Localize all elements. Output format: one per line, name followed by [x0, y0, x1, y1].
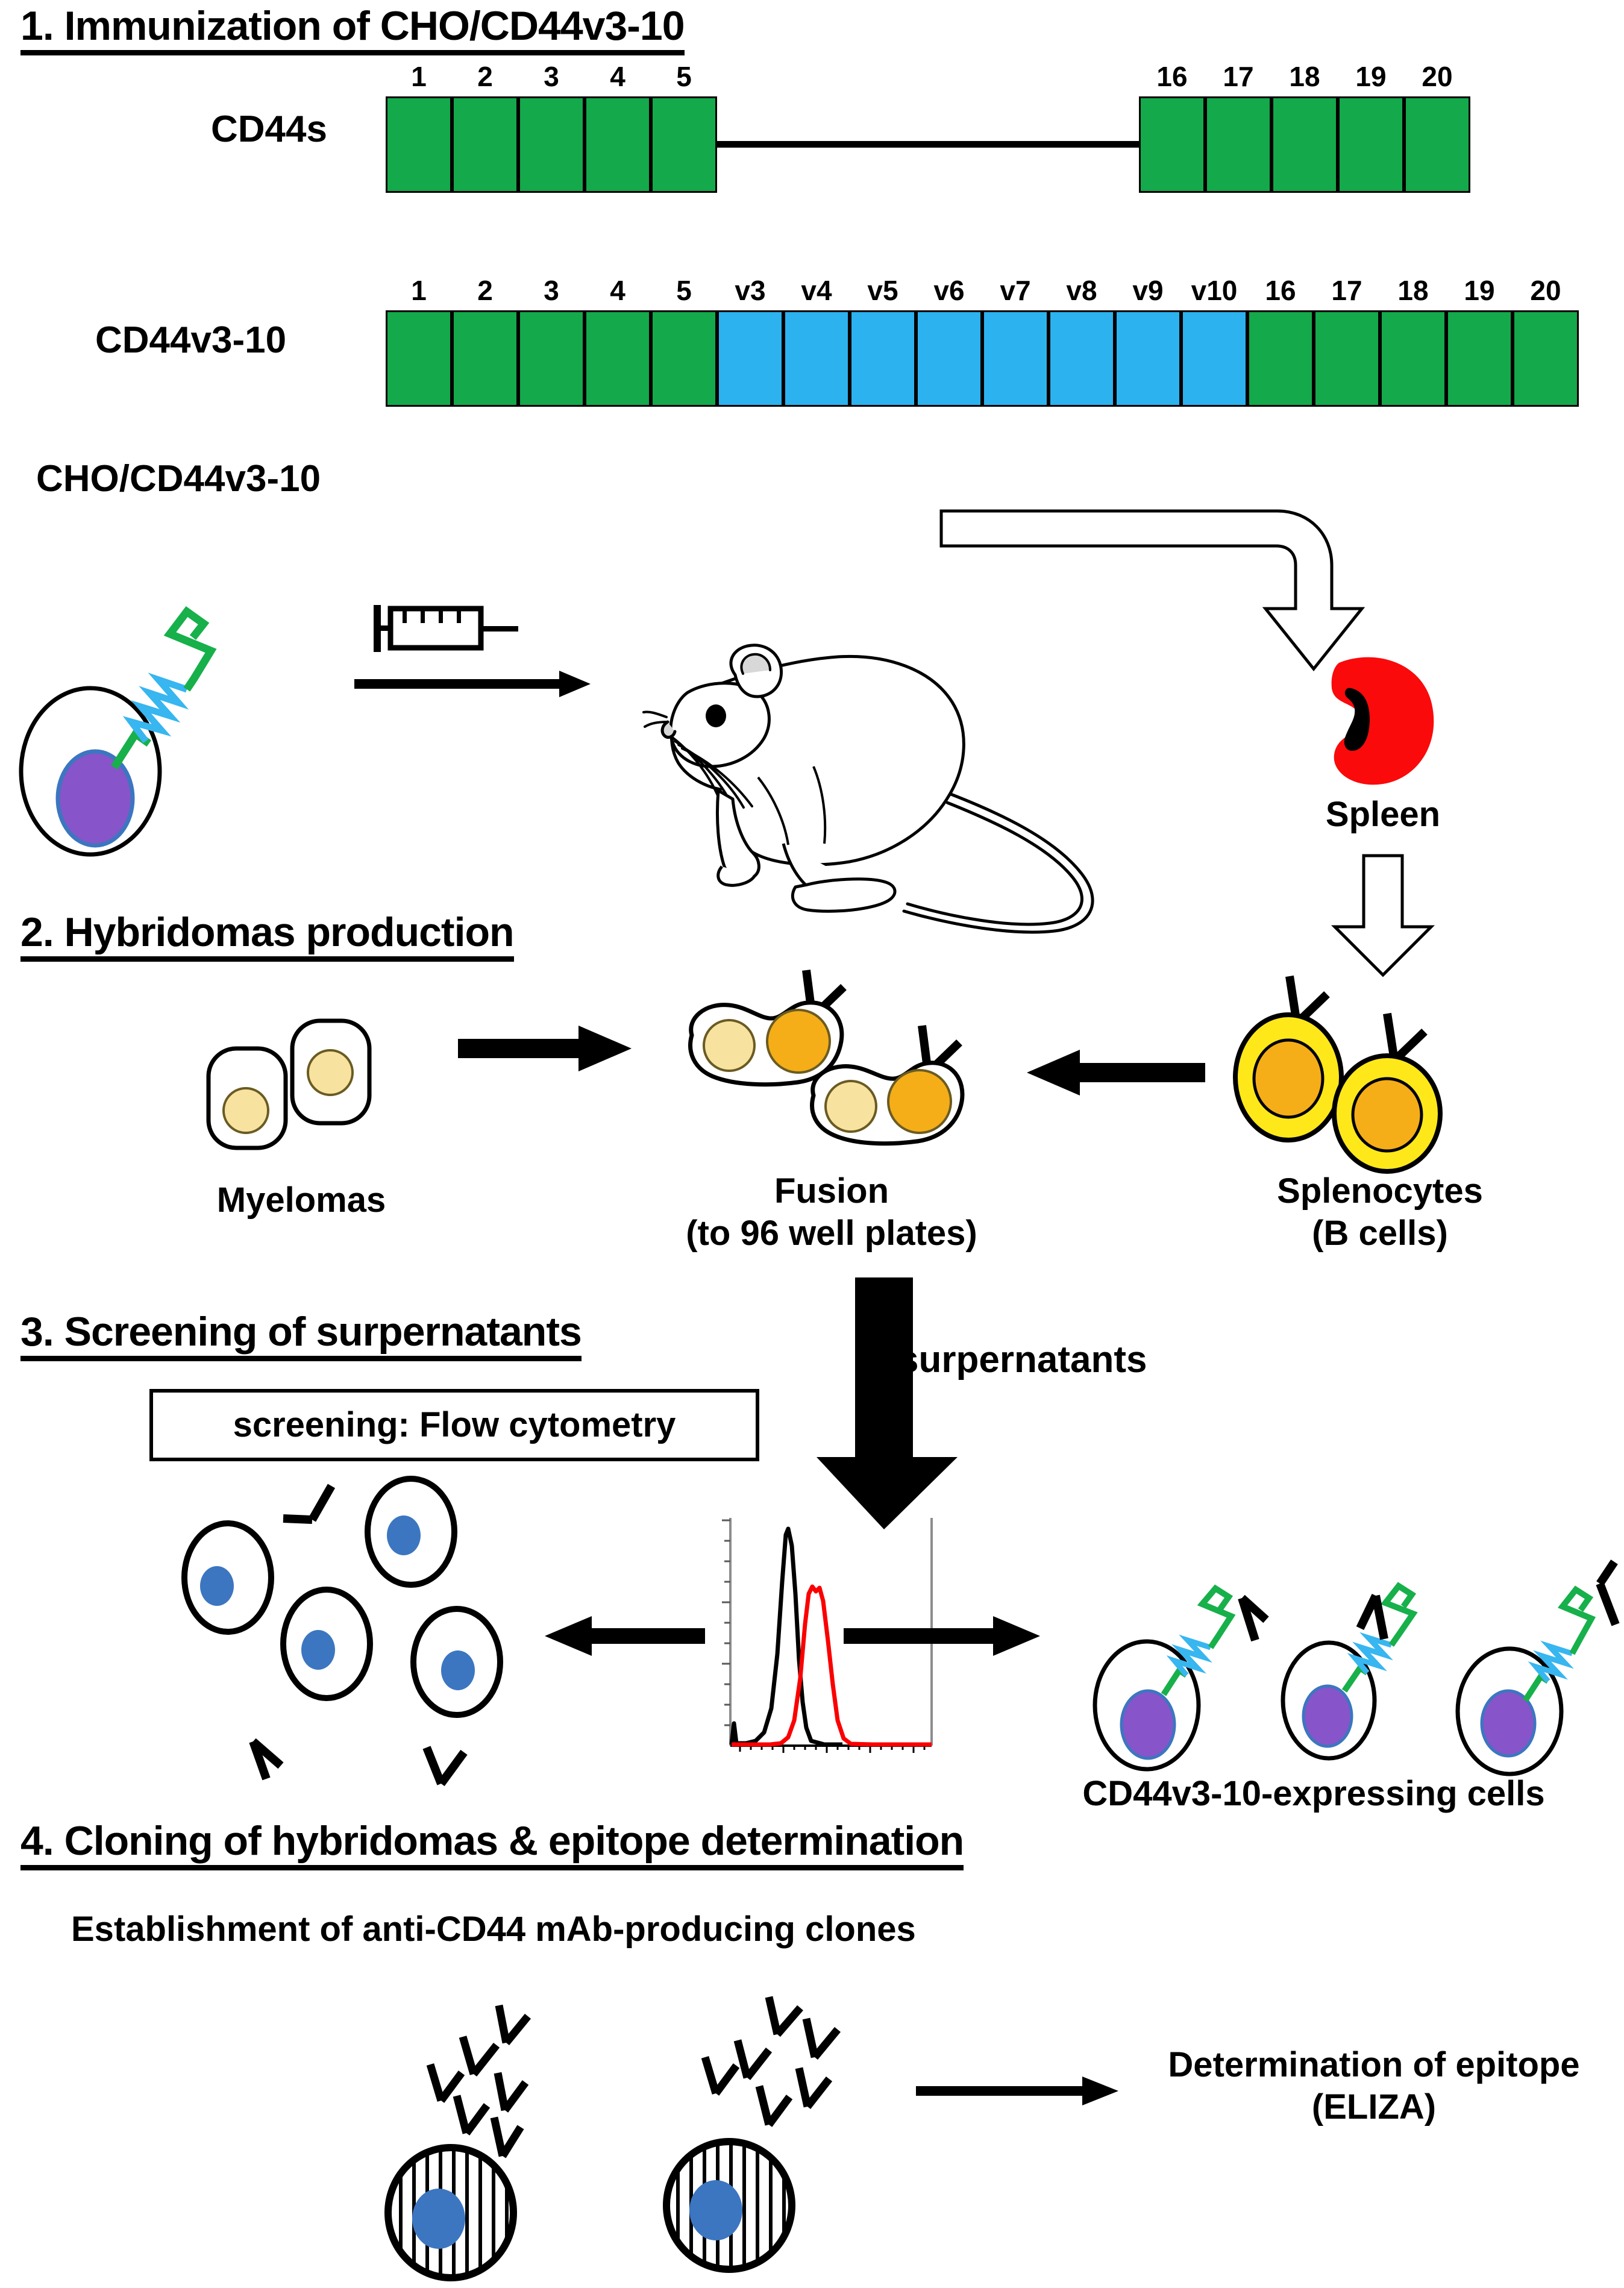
- antibody-y-icon: [427, 1747, 464, 1784]
- flow-series-stained: [732, 1587, 932, 1744]
- negative-nucleus-4: [441, 1650, 475, 1690]
- fusion-cells-graphic: [663, 958, 1049, 1163]
- antibody-y-icon: [463, 2037, 497, 2074]
- exon-box-4: [585, 96, 651, 193]
- negative-nucleus-3: [301, 1630, 335, 1670]
- splenocyte-nucleus-1: [1254, 1040, 1323, 1117]
- screening-method-box: screening: Flow cytometry: [149, 1389, 759, 1461]
- myeloma-nucleus-2: [308, 1050, 353, 1095]
- section-1-title: 1. Immunization of CHO/CD44v3-10: [20, 5, 685, 55]
- fusion-nucleus-orange-1: [767, 1010, 830, 1073]
- myelomas-label: Myelomas: [139, 1181, 464, 1220]
- arrow-right-icon-immunize: [354, 666, 595, 702]
- myeloma-nucleus-1: [224, 1088, 268, 1133]
- exon-box-v8: [1049, 310, 1115, 407]
- antibody-y-icon: [1360, 1596, 1384, 1639]
- fusion-label-line2: (to 96 well plates): [621, 1214, 1042, 1253]
- fusion-label-line1: Fusion: [621, 1172, 1042, 1211]
- negative-nucleus-2: [387, 1515, 421, 1555]
- exon-box-5: [651, 310, 717, 407]
- antibody-y-icon: [457, 2096, 487, 2133]
- expressing-cell-1: [1095, 1588, 1266, 1769]
- exon-box-v3: [717, 310, 783, 407]
- clone-cell-2-graphic: [663, 1995, 916, 2278]
- splenocytes-label-line2: (B cells): [1193, 1214, 1567, 1253]
- exon-box-18: [1271, 96, 1338, 193]
- supernatants-label: surpernatants: [898, 1339, 1147, 1381]
- negative-cells-graphic: [139, 1482, 536, 1784]
- exon-box-16: [1139, 96, 1205, 193]
- exon-box-v10: [1181, 310, 1247, 407]
- spleen-icon: [1314, 651, 1446, 789]
- exon-box-v7: [982, 310, 1049, 407]
- exon-box-v6: [916, 310, 982, 407]
- exon-box-1: [386, 310, 452, 407]
- antibody-y-icon: [705, 2057, 736, 2093]
- clone-cell-1-graphic: [386, 2001, 639, 2284]
- antibody-cloud-2: [705, 1997, 838, 2125]
- exon-box-4: [585, 310, 651, 407]
- antibody-y-icon: [253, 1741, 281, 1779]
- splenocyte-cells-graphic: [1223, 976, 1488, 1175]
- exon-box-1: [386, 96, 452, 193]
- clone-cell-2-nucleus: [689, 2180, 742, 2240]
- exon-box-2: [452, 310, 518, 407]
- expressing-cell-3: [1458, 1562, 1616, 1774]
- exon-box-20: [1513, 310, 1579, 407]
- isoform-label-cd44s: CD44s: [211, 108, 327, 150]
- syringe-icon: [368, 603, 566, 675]
- determination-label-line2: (ELIZA): [1133, 2088, 1615, 2127]
- splenocyte-nucleus-2: [1353, 1079, 1422, 1151]
- exon-box-5: [651, 96, 717, 193]
- hollow-arrow-icon-to-spleen: [940, 506, 1362, 711]
- receptor-hook-green: [170, 612, 211, 689]
- antibody-y-icon: [1242, 1598, 1266, 1640]
- fusion-nucleus-pale-1: [704, 1020, 754, 1071]
- fusion-nucleus-pale-2: [826, 1081, 876, 1132]
- antibody-y-icon: [499, 2005, 528, 2043]
- exon-box-2: [452, 96, 518, 193]
- antibody-y-icon: [759, 2086, 789, 2125]
- mouse-eye: [706, 704, 726, 727]
- negative-nucleus-1: [200, 1566, 234, 1606]
- exon-number-20: 20: [1505, 274, 1586, 307]
- antibody-y-icon: [806, 2019, 838, 2057]
- hollow-arrow-icon-to-splenocytes: [1329, 856, 1437, 976]
- arrow-right-icon-fusion: [458, 1024, 633, 1073]
- exon-box-3: [518, 96, 585, 193]
- cho-cell-nucleus: [58, 751, 133, 845]
- clone-cell-1-nucleus: [412, 2189, 465, 2249]
- antibody-y-icon: [498, 2073, 525, 2110]
- arrow-down-icon-supernatants: [817, 1277, 973, 1531]
- arrow-left-icon-negative: [542, 1615, 705, 1657]
- isoform-label-cd44v3-10: CD44v3-10: [95, 319, 286, 361]
- exon-box-20: [1404, 96, 1470, 193]
- exon-box-3: [518, 310, 585, 407]
- antibody-y-icon: [1387, 1014, 1425, 1061]
- antibody-y-icon: [494, 2117, 521, 2156]
- establishment-label: Establishment of anti-CD44 mAb-producing…: [71, 1910, 916, 1949]
- exon-box-v4: [783, 310, 850, 407]
- exon-box-16: [1247, 310, 1314, 407]
- intron-connector-line: [717, 141, 1139, 148]
- exon-box-17: [1314, 310, 1380, 407]
- section-2-title: 2. Hybridomas production: [20, 911, 514, 962]
- expressing-cells-label: CD44v3-10-expressing cells: [1012, 1775, 1615, 1814]
- arrow-right-icon-positive: [844, 1615, 1042, 1657]
- antibody-y-icon: [799, 2068, 829, 2107]
- expressing-cells-graphic: [1046, 1476, 1618, 1790]
- antibody-y-icon: [1600, 1562, 1616, 1625]
- antibody-y-icon: [283, 1486, 331, 1520]
- splenocytes-label-line1: Splenocytes: [1193, 1172, 1567, 1211]
- exon-box-17: [1205, 96, 1271, 193]
- arrow-right-icon-determination: [916, 2073, 1121, 2109]
- expressing-cell-2: [1283, 1586, 1413, 1758]
- exon-box-19: [1446, 310, 1513, 407]
- exon-number-20: 20: [1397, 60, 1478, 93]
- exon-box-v5: [850, 310, 916, 407]
- section-4-title: 4. Cloning of hybridomas & epitope deter…: [20, 1820, 964, 1870]
- exon-box-18: [1380, 310, 1446, 407]
- screening-method-label: screening: Flow cytometry: [233, 1406, 676, 1445]
- cho-cell-graphic: [12, 560, 350, 850]
- figure-root: 1. Immunization of CHO/CD44v3-10 CD44s 1…: [0, 0, 1624, 2288]
- exon-box-v9: [1115, 310, 1181, 407]
- spleen-label: Spleen: [1284, 795, 1482, 835]
- section-3-title: 3. Screening of surpernatants: [20, 1311, 582, 1361]
- antibody-y-icon: [769, 1997, 800, 2034]
- fusion-nucleus-orange-2: [888, 1070, 951, 1133]
- antibody-cloud-1: [430, 2005, 528, 2156]
- cho-cell-label: CHO/CD44v3-10: [36, 458, 321, 500]
- antibody-y-icon: [738, 2040, 769, 2078]
- exon-number-5: 5: [644, 60, 724, 93]
- arrow-left-icon-fusion: [1024, 1048, 1205, 1097]
- exon-box-19: [1338, 96, 1404, 193]
- antibody-y-icon: [430, 2064, 462, 2101]
- determination-label-line1: Determination of epitope: [1133, 2046, 1615, 2085]
- myeloma-cells-graphic: [199, 1012, 404, 1175]
